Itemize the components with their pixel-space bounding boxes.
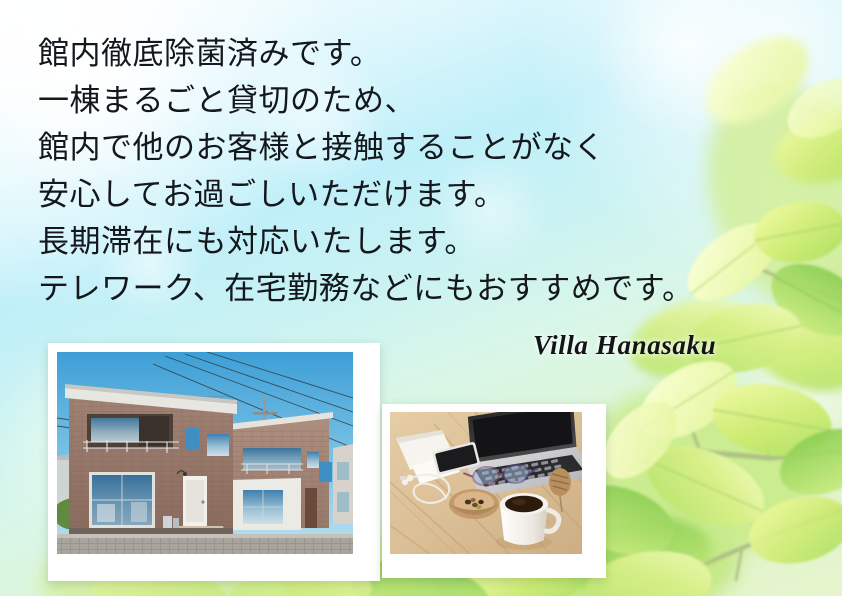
telework-desk-photo-image — [390, 412, 582, 554]
brand-signature: Villa Hanasaku — [533, 330, 716, 361]
bokeh-circle — [740, 330, 842, 460]
copy-line-1: 館内徹底除菌済みです。 — [38, 30, 738, 77]
copy-line-6: テレワーク、在宅勤務などにもおすすめです。 — [38, 265, 738, 312]
promo-copy-block: 館内徹底除菌済みです。 一棟まるごと貸切のため、 館内で他のお客様と接触すること… — [38, 30, 738, 312]
telework-desk-photo — [382, 404, 606, 578]
copy-line-5: 長期滞在にも対応いたします。 — [38, 218, 738, 265]
poster-canvas: 館内徹底除菌済みです。 一棟まるごと貸切のため、 館内で他のお客様と接触すること… — [0, 0, 842, 596]
exterior-house-photo — [48, 343, 380, 581]
exterior-house-photo-image — [57, 352, 353, 554]
copy-line-2: 一棟まるごと貸切のため、 — [38, 77, 738, 124]
copy-line-4: 安心してお過ごしいただけます。 — [38, 171, 738, 218]
copy-line-3: 館内で他のお客様と接触することがなく — [38, 124, 738, 171]
